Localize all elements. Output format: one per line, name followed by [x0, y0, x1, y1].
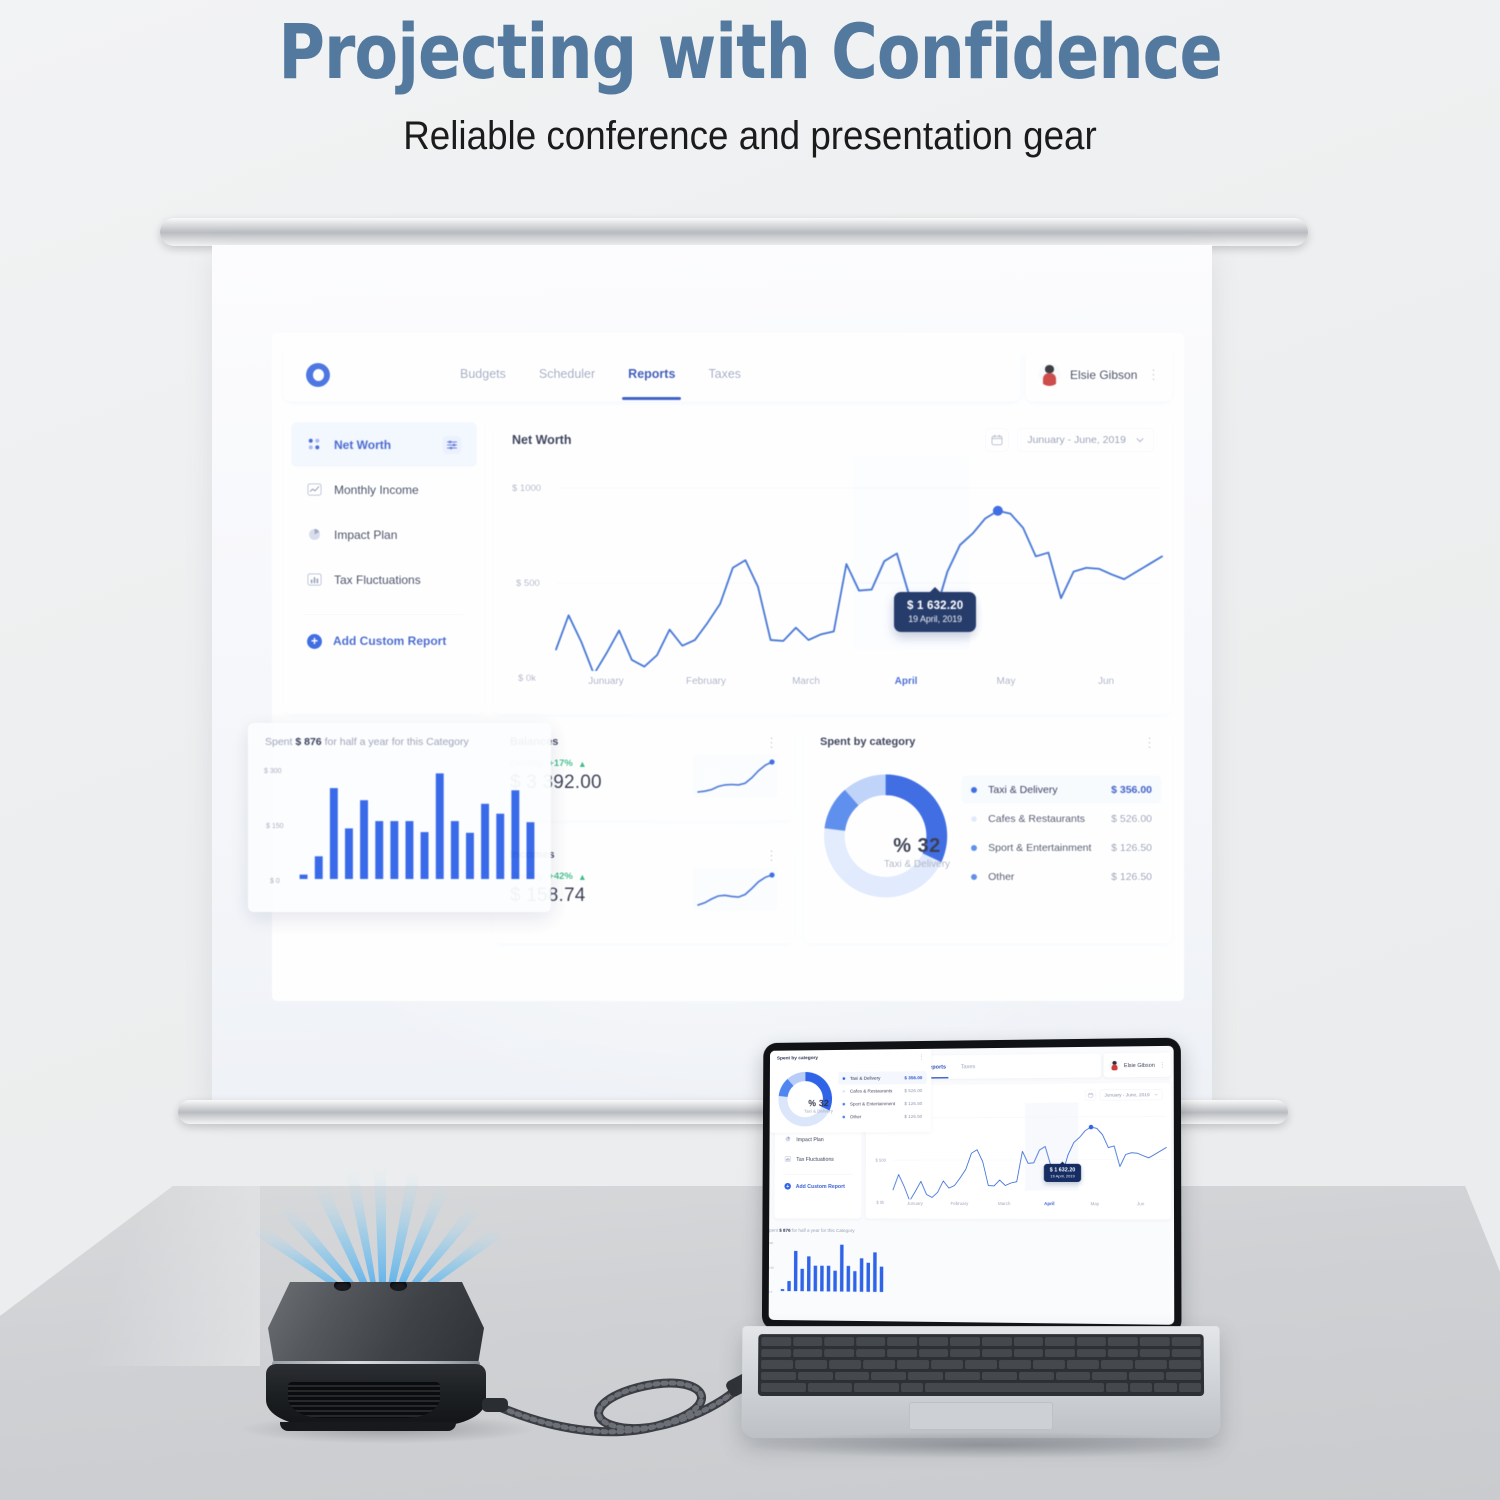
laptop-lid: Budgets Scheduler Reports Taxes Elsie Gi… [762, 1038, 1182, 1336]
category-legend: Taxi & Delivery $ 356.00 Cafes & Restaur… [838, 1071, 929, 1123]
projector-speaker-grille [288, 1382, 440, 1418]
bars-ytick-150: $ 150 [769, 1265, 774, 1269]
sidebar-label-net-worth: Net Worth [334, 438, 391, 452]
laptop-screen: Budgets Scheduler Reports Taxes Elsie Gi… [769, 1046, 1175, 1325]
spent-per-period-bar-chart: $ 300 $ 150 $ 0 [248, 757, 551, 902]
keyboard-key[interactable] [1166, 1372, 1201, 1382]
bar-11 [847, 1266, 851, 1292]
date-range-value: Junuary - June, 2019 [1104, 1092, 1149, 1098]
keyboard-key[interactable] [795, 1360, 827, 1370]
keyboard-key[interactable] [1171, 1337, 1201, 1347]
chevron-down-icon [1154, 1093, 1158, 1097]
keyboard-key[interactable] [854, 1383, 899, 1393]
net-worth-controls: Junuary - June, 2019 [1085, 1089, 1162, 1100]
keyboard-key[interactable] [761, 1360, 793, 1370]
keyboard-key[interactable] [901, 1383, 923, 1393]
legend-value-sport-entertainment: $ 126.50 [1111, 842, 1152, 854]
bar-15 [873, 1252, 877, 1292]
spent-suffix: for half a year for this Category [325, 736, 469, 748]
keyboard-row-2 [761, 1349, 1201, 1359]
bar-14 [496, 814, 504, 879]
plus-circle-icon: + [784, 1183, 791, 1190]
donut-and-legend: Taxi & Delivery $ 356.00 Cafes & Restaur… [770, 1059, 932, 1133]
date-range-selector[interactable]: Junuary - June, 2019 [1100, 1089, 1163, 1100]
bar-1 [781, 1289, 784, 1291]
tooltip-value: $ 1 632.20 [907, 600, 963, 612]
keyboard-key[interactable] [1077, 1349, 1107, 1359]
bar-14 [866, 1263, 870, 1292]
net-worth-x-axis: Junuary February March April May Jun [893, 1202, 1164, 1207]
legend-row-taxi-delivery[interactable]: Taxi & Delivery $ 356.00 [961, 775, 1162, 804]
spent-per-period-bar-chart: $ 300 $ 150 $ 0 [769, 1237, 891, 1302]
keyboard-key[interactable] [919, 1349, 949, 1359]
incomes-sparkline [692, 867, 778, 911]
bar-2 [315, 856, 323, 879]
tab-taxes[interactable]: Taxes [708, 367, 741, 383]
xlabel-february: February [937, 1202, 982, 1207]
add-custom-report-button[interactable]: + Add Custom Report [291, 621, 477, 661]
keyboard-row-5 [761, 1383, 1201, 1393]
legend-row-sport-entertainment[interactable]: Sport & Entertainment $ 126.50 [961, 833, 1162, 862]
legend-row-other[interactable]: Other $ 126.50 [838, 1110, 927, 1123]
keyboard-key[interactable] [761, 1372, 796, 1382]
laptop[interactable]: Budgets Scheduler Reports Taxes Elsie Gi… [742, 1040, 1254, 1482]
keyboard-key[interactable] [982, 1372, 1017, 1382]
keyboard-key[interactable] [919, 1337, 949, 1347]
keyboard-key[interactable] [982, 1349, 1012, 1359]
legend-row-cafes-restaurants[interactable]: Cafes & Restaurants $ 526.00 [961, 804, 1162, 833]
keyboard-key[interactable] [925, 1383, 1104, 1393]
keyboard-key[interactable] [761, 1337, 791, 1347]
keyboard-key[interactable] [761, 1383, 806, 1393]
bar-16 [880, 1267, 884, 1292]
bar-chart-icon [307, 572, 322, 587]
spent-prefix: Spent [265, 736, 292, 748]
keyboard-key[interactable] [1135, 1360, 1167, 1370]
kebab-menu-icon[interactable]: ⋮ [918, 1055, 924, 1058]
legend-value-cafes-restaurants: $ 526.00 [1111, 813, 1152, 825]
spent-by-category-title: Spent by category [777, 1055, 818, 1061]
legend-value-other: $ 126.50 [904, 1114, 922, 1119]
screen-roller-top [160, 218, 1308, 246]
legend-row-taxi-delivery[interactable]: Taxi & Delivery $ 356.00 [838, 1071, 927, 1085]
bars-ytick-150: $ 150 [266, 823, 284, 830]
sidebar-item-monthly-income[interactable]: Monthly Income [291, 467, 477, 512]
donut-percent: % 32 [795, 1098, 843, 1108]
keyboard-key[interactable] [1129, 1372, 1164, 1382]
projector-vent-right [390, 1280, 407, 1291]
sidebar-label-impact-plan: Impact Plan [796, 1136, 823, 1142]
keyboard-key[interactable] [1140, 1349, 1170, 1359]
bar-13 [481, 804, 489, 879]
sidebar-item-net-worth[interactable]: Net Worth [291, 422, 477, 467]
keyboard-key[interactable] [999, 1360, 1031, 1370]
balances-delta: +17% [548, 758, 573, 769]
net-worth-card: Net Worth Junuary - June, 2019 $ 1000 $ … [494, 414, 1172, 714]
legend-dot-icon [842, 1103, 845, 1106]
legend-dot-icon [971, 845, 977, 851]
keyboard-key[interactable] [1092, 1372, 1127, 1382]
keyboard-key[interactable] [856, 1349, 886, 1359]
bars-ytick-0: $ 0 [270, 878, 280, 885]
bars-ytick-300: $ 300 [769, 1241, 774, 1245]
keyboard-key[interactable] [1019, 1372, 1054, 1382]
bar-2 [787, 1281, 790, 1291]
keyboard-key[interactable] [1171, 1349, 1201, 1359]
legend-dot-icon [843, 1077, 846, 1080]
legend-value-other: $ 126.50 [1111, 871, 1152, 883]
bar-11 [451, 821, 459, 879]
keyboard-key[interactable] [951, 1337, 981, 1347]
tab-taxes[interactable]: Taxes [961, 1063, 976, 1070]
laptop-shadow [752, 1432, 1222, 1458]
sidebar-item-tax-fluctuations[interactable]: Tax Fluctuations [778, 1149, 859, 1169]
legend-label-sport-entertainment: Sport & Entertainment [988, 842, 1091, 854]
legend-label-cafes-restaurants: Cafes & Restaurants [988, 813, 1085, 825]
keyboard-key[interactable] [1154, 1383, 1176, 1393]
keyboard-key[interactable] [1045, 1337, 1075, 1347]
nav-tabs: Budgets Scheduler Reports Taxes [460, 348, 741, 401]
user-menu[interactable]: Elsie Gibson ⋮ [1104, 1053, 1171, 1078]
keyboard-key[interactable] [856, 1337, 886, 1347]
donut-and-legend: Taxi & Delivery $ 356.00 Cafes & Restaur… [804, 748, 1172, 912]
top-navigation-bar: Budgets Scheduler Reports Taxes [284, 348, 1020, 401]
net-worth-card-header: Net Worth Junuary - June, 2019 [494, 414, 1172, 452]
bar-12 [466, 833, 474, 879]
legend-row-other[interactable]: Other $ 126.50 [961, 862, 1162, 891]
legend-dot-icon [971, 816, 977, 822]
spent-bars-card: Spent $ 876 for half a year for this Cat… [769, 1222, 855, 1233]
bar-4 [800, 1269, 804, 1291]
donut-category: Taxi & Delivery [795, 1109, 843, 1114]
donut-percent: % 32 [862, 835, 972, 858]
net-worth-ytick-0: $ 0k [518, 673, 536, 684]
user-name: Elsie Gibson [1124, 1062, 1155, 1069]
sidebar-divider [304, 614, 464, 615]
calendar-icon[interactable] [1085, 1090, 1096, 1101]
spent-suffix: for half a year for this Category [792, 1228, 855, 1234]
kebab-menu-icon[interactable]: ⋮ [765, 852, 778, 859]
keyboard-key[interactable] [1169, 1360, 1201, 1370]
keyboard-key[interactable] [1101, 1360, 1133, 1370]
spent-by-category-header: Spent by category ⋮ [804, 725, 1172, 748]
bar-10 [436, 773, 444, 879]
legend-label-taxi-delivery: Taxi & Delivery [988, 784, 1057, 796]
bar-1 [300, 875, 308, 879]
bar-5 [807, 1256, 811, 1291]
tooltip-date: 19 April, 2019 [907, 614, 963, 624]
laptop-base [742, 1326, 1221, 1438]
legend-label-other: Other [850, 1114, 861, 1119]
usb-c-to-hdmi-cable [430, 1320, 790, 1450]
spent-by-category-card: Spent by category ⋮ Taxi & Delivery $ 35… [770, 1049, 932, 1133]
keyboard-key[interactable] [1045, 1349, 1075, 1359]
kebab-menu-icon[interactable]: ⋮ [1159, 1063, 1165, 1066]
xlabel-march: March [982, 1202, 1027, 1207]
bar-3 [330, 788, 338, 879]
sliders-icon[interactable] [443, 436, 461, 454]
keyboard-key[interactable] [824, 1337, 854, 1347]
legend-label-sport-entertainment: Sport & Entertainment [850, 1101, 895, 1107]
legend-label-cafes-restaurants: Cafes & Restaurants [850, 1088, 892, 1094]
grid-dots-icon [307, 437, 322, 452]
cable-connector-projector [482, 1398, 508, 1412]
bar-15 [511, 790, 519, 879]
sidebar-label-monthly-income: Monthly Income [334, 483, 419, 497]
date-range-selector[interactable]: Junuary - June, 2019 [1017, 428, 1154, 452]
tab-scheduler[interactable]: Scheduler [539, 367, 595, 383]
keyboard-key[interactable] [1106, 1383, 1128, 1393]
xlabel-february: February [656, 676, 756, 687]
ring-logo-icon[interactable] [306, 363, 330, 387]
kebab-menu-icon[interactable]: ⋮ [1143, 739, 1156, 746]
bar-10 [840, 1245, 844, 1292]
xlabel-may: May [956, 676, 1056, 687]
legend-dot-icon [971, 787, 977, 793]
bars-ytick-300: $ 300 [264, 768, 282, 775]
net-worth-line-chart [494, 456, 1172, 671]
category-legend: Taxi & Delivery $ 356.00 Cafes & Restaur… [961, 775, 1168, 891]
xlabel-jun: Jun [1056, 676, 1156, 687]
add-custom-report-label: Add Custom Report [333, 634, 446, 648]
bar-chart-icon [785, 1156, 792, 1163]
spent-bars-card: Spent $ 876 for half a year for this Cat… [248, 723, 551, 912]
keyboard-key[interactable] [1140, 1337, 1170, 1347]
xlabel-april: April [856, 676, 956, 687]
laptop-keyboard[interactable] [758, 1334, 1204, 1396]
legend-dot-icon [971, 874, 977, 880]
keyboard-key[interactable] [1130, 1383, 1152, 1393]
bar-13 [860, 1258, 864, 1291]
pie-chart-icon [785, 1136, 792, 1143]
kebab-menu-icon[interactable]: ⋮ [1147, 371, 1160, 378]
pie-chart-icon [307, 527, 322, 542]
spent-amount: $ 876 [779, 1228, 790, 1233]
tab-budgets[interactable]: Budgets [460, 367, 506, 383]
keyboard-key[interactable] [824, 1349, 854, 1359]
spent-amount: $ 876 [295, 736, 321, 748]
keyboard-key[interactable] [887, 1337, 917, 1347]
trend-up-icon: ▲ [578, 759, 587, 769]
keyboard-key[interactable] [945, 1372, 980, 1382]
bar-7 [390, 821, 398, 879]
keyboard-key[interactable] [871, 1372, 906, 1382]
keyboard-row-4 [761, 1372, 1201, 1382]
bar-8 [827, 1266, 831, 1292]
user-menu[interactable]: Elsie Gibson ⋮ [1026, 348, 1172, 401]
tooltip-arrow [930, 587, 940, 592]
xlabel-april: April [1027, 1202, 1072, 1207]
user-avatar [1038, 363, 1061, 386]
keyboard-row-3 [761, 1360, 1201, 1370]
keyboard-key[interactable] [1067, 1360, 1099, 1370]
keyboard-key[interactable] [829, 1360, 861, 1370]
legend-value-cafes-restaurants: $ 526.00 [904, 1088, 922, 1093]
line-chart-icon [307, 482, 322, 497]
bar-9 [421, 832, 429, 879]
keyboard-key[interactable] [931, 1360, 963, 1370]
sidebar-label-tax-fluctuations: Tax Fluctuations [334, 573, 421, 587]
keyboard-key[interactable] [1056, 1372, 1091, 1382]
xlabel-january: Junuary [556, 676, 656, 687]
date-range-value: Junuary - June, 2019 [1027, 434, 1126, 446]
keyboard-key[interactable] [887, 1349, 917, 1359]
legend-label-taxi-delivery: Taxi & Delivery [850, 1075, 880, 1081]
keyboard-key[interactable] [1108, 1349, 1138, 1359]
spent-by-category-donut [810, 754, 961, 912]
net-worth-tooltip: $ 1 632.20 19 April, 2019 [894, 592, 976, 632]
keyboard-key[interactable] [908, 1372, 943, 1382]
keyboard-key[interactable] [793, 1337, 823, 1347]
keyboard-key[interactable] [1179, 1383, 1201, 1393]
keyboard-key[interactable] [798, 1372, 833, 1382]
user-name: Elsie Gibson [1070, 368, 1137, 382]
donut-category: Taxi & Delivery [862, 859, 972, 870]
sidebar-item-impact-plan[interactable]: Impact Plan [291, 512, 477, 557]
keyboard-key[interactable] [950, 1349, 980, 1359]
donut-center-label: % 32 Taxi & Delivery [795, 1098, 843, 1114]
bar-5 [360, 800, 368, 879]
kebab-menu-icon[interactable]: ⋮ [765, 739, 778, 746]
donut-center-label: % 32 Taxi & Delivery [862, 835, 972, 870]
net-worth-ytick-0: $ 0k [876, 1200, 884, 1205]
net-worth-title: Net Worth [512, 433, 572, 447]
bar-8 [406, 821, 414, 879]
calendar-icon[interactable] [985, 428, 1009, 452]
add-custom-report-label: Add Custom Report [796, 1183, 845, 1189]
keyboard-key[interactable] [965, 1360, 997, 1370]
keyboard-key[interactable] [1108, 1337, 1138, 1347]
balances-sparkline [692, 754, 778, 798]
tooltip-arrow [1060, 1162, 1065, 1164]
net-worth-controls: Junuary - June, 2019 [985, 428, 1154, 452]
legend-label-other: Other [988, 871, 1014, 883]
keyboard-key[interactable] [1014, 1337, 1044, 1347]
laptop-trackpad[interactable] [909, 1402, 1053, 1430]
incomes-delta: +42% [548, 871, 573, 882]
keyboard-key[interactable] [761, 1349, 791, 1359]
keyboard-key[interactable] [808, 1383, 853, 1393]
keyboard-key[interactable] [793, 1349, 823, 1359]
spent-by-category-title: Spent by category [820, 736, 915, 748]
bar-3 [794, 1251, 798, 1291]
chevron-down-icon [1136, 436, 1144, 444]
legend-dot-icon [843, 1090, 846, 1093]
tooltip-date: 19 April, 2019 [1050, 1174, 1076, 1179]
legend-row-sport-entertainment[interactable]: Sport & Entertainment $ 126.50 [838, 1097, 927, 1111]
bar-4 [345, 828, 353, 879]
projector-vent-left [334, 1280, 351, 1291]
xlabel-may: May [1072, 1202, 1118, 1207]
keyboard-key[interactable] [1077, 1337, 1107, 1347]
bar-6 [814, 1266, 818, 1292]
laptop-dashboard-mirror: Budgets Scheduler Reports Taxes Elsie Gi… [769, 1046, 1175, 1325]
bar-16 [527, 822, 535, 879]
bars-ytick-0: $ 0 [769, 1290, 773, 1294]
net-worth-x-axis: Junuary February March April May Jun [556, 676, 1156, 687]
legend-value-sport-entertainment: $ 126.50 [904, 1101, 922, 1106]
plus-circle-icon: + [307, 634, 322, 649]
legend-value-taxi-delivery: $ 356.00 [904, 1075, 922, 1081]
keyboard-row-1 [761, 1337, 1200, 1347]
spent-prefix: Spent [769, 1228, 778, 1233]
bar-12 [853, 1271, 857, 1292]
sidebar-label-impact-plan: Impact Plan [334, 528, 397, 542]
trend-up-icon: ▲ [578, 872, 587, 882]
legend-row-cafes-restaurants[interactable]: Cafes & Restaurants $ 526.00 [838, 1084, 927, 1098]
keyboard-key[interactable] [1033, 1360, 1065, 1370]
keyboard-key[interactable] [835, 1372, 870, 1382]
user-avatar [1109, 1060, 1120, 1071]
spent-by-category-card: Spent by category ⋮ Taxi & Delivery $ 35… [804, 725, 1172, 943]
spent-bars-caption: Spent $ 876 for half a year for this Cat… [769, 1222, 855, 1233]
bar-6 [375, 821, 383, 879]
legend-value-taxi-delivery: $ 356.00 [1111, 784, 1152, 796]
spent-bars-caption: Spent $ 876 for half a year for this Cat… [248, 723, 551, 748]
keyboard-key[interactable] [863, 1360, 895, 1370]
keyboard-key[interactable] [982, 1337, 1012, 1347]
legend-dot-icon [842, 1115, 845, 1118]
sidebar-divider [783, 1174, 852, 1175]
net-worth-tooltip: $ 1 632.20 19 April, 2019 [1044, 1164, 1081, 1182]
tab-reports[interactable]: Reports [628, 367, 675, 383]
xlabel-march: March [756, 676, 856, 687]
sidebar-item-tax-fluctuations[interactable]: Tax Fluctuations [291, 557, 477, 602]
bar-7 [820, 1266, 824, 1292]
sidebar-label-tax-fluctuations: Tax Fluctuations [796, 1156, 834, 1162]
sidebar: Net Worth Monthly Income Impact Plan [284, 414, 484, 714]
xlabel-jun: Jun [1118, 1202, 1164, 1207]
keyboard-key[interactable] [897, 1360, 929, 1370]
tooltip-value: $ 1 632.20 [1050, 1167, 1076, 1172]
bar-9 [833, 1271, 837, 1292]
xlabel-january: Junuary [893, 1202, 937, 1207]
add-custom-report-button[interactable]: + Add Custom Report [778, 1177, 859, 1195]
keyboard-key[interactable] [1014, 1349, 1044, 1359]
